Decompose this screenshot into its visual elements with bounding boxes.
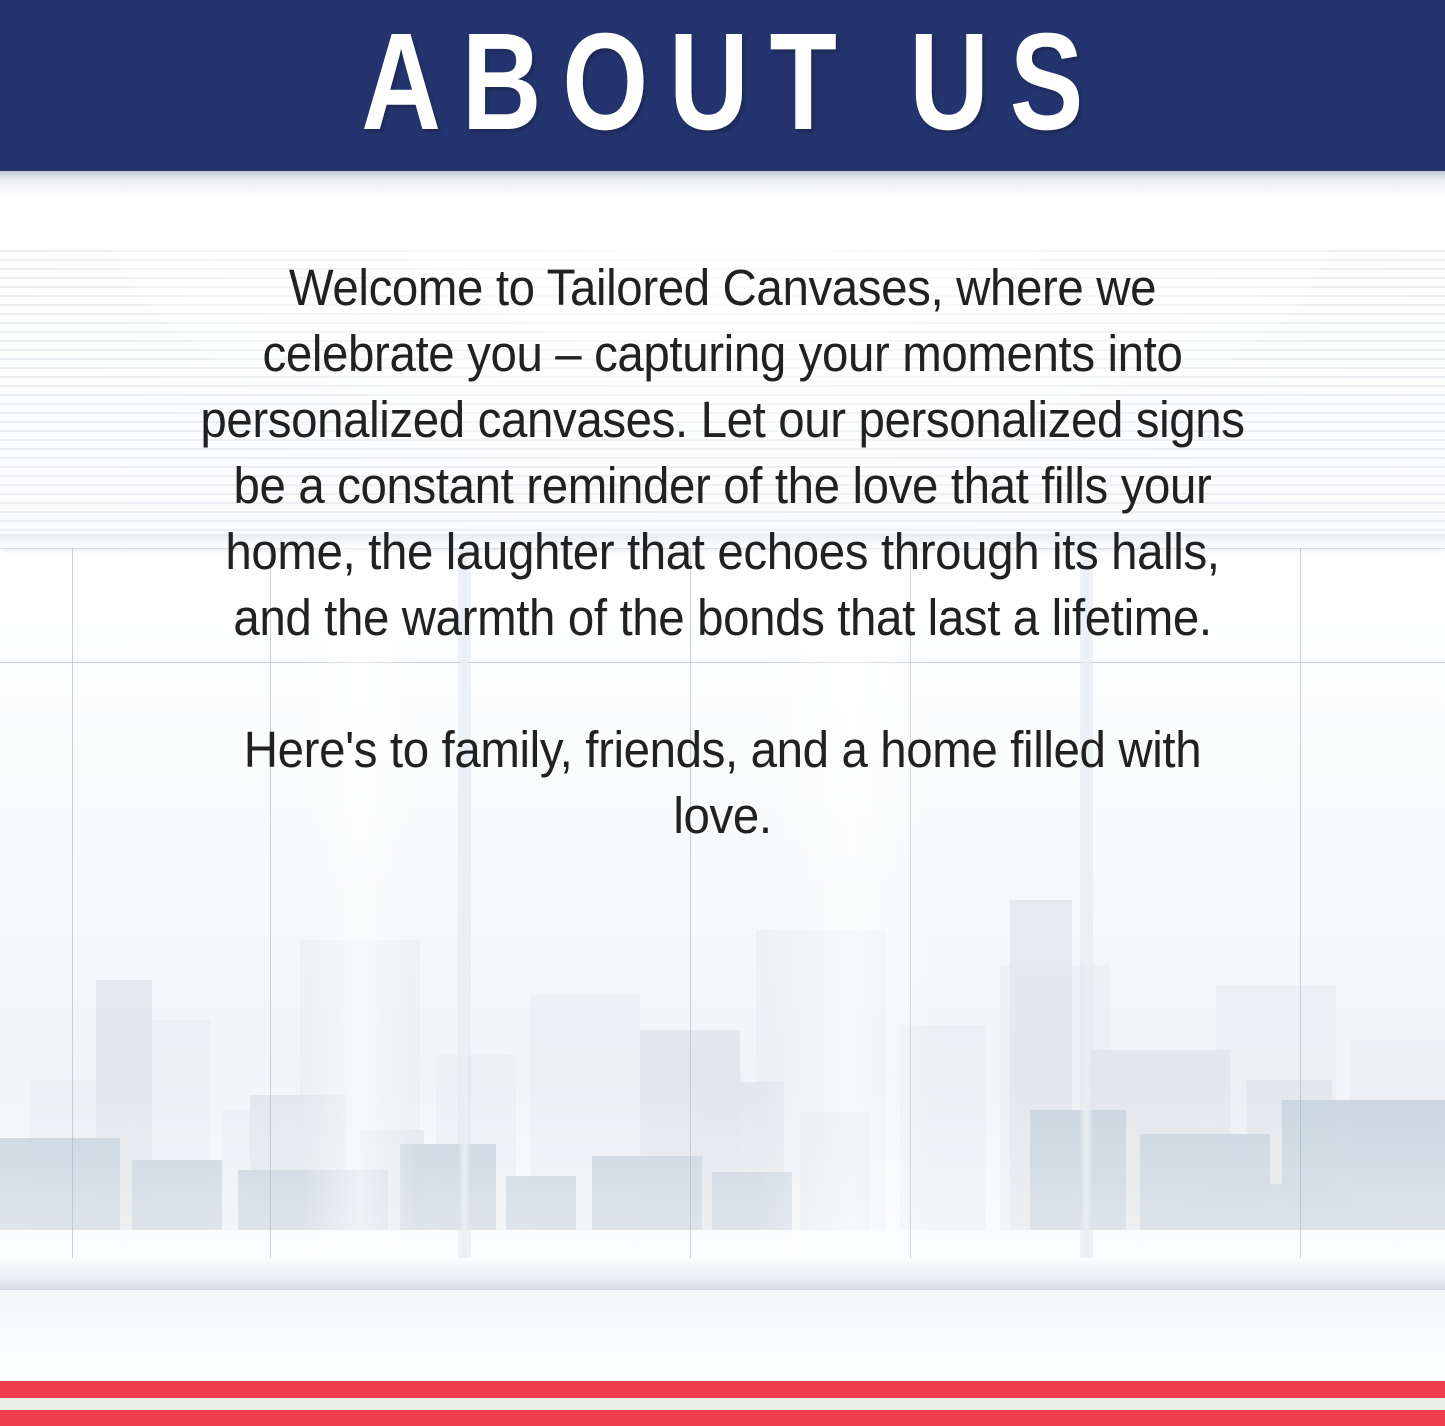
footer-stripe-top <box>0 1381 1445 1398</box>
about-paragraph-1: Welcome to Tailored Canvases, where we c… <box>51 255 1395 651</box>
about-us-card: ABOUT US Welcome to Tailored Canvases, w… <box>0 0 1445 1426</box>
about-paragraph-2: Here's to family, friends, and a home fi… <box>51 717 1395 849</box>
header-drop-shadow <box>0 171 1445 197</box>
founder-signature-block: Harley Founder of Tailored Canvases <box>0 1040 1445 1340</box>
footer-stripe-gap <box>0 1398 1445 1410</box>
about-text-block: Welcome to Tailored Canvases, where we c… <box>0 255 1445 849</box>
paragraph-spacer <box>0 651 1445 717</box>
header-bar: ABOUT US <box>0 0 1445 171</box>
footer-stripe-bottom <box>0 1410 1445 1426</box>
page-title: ABOUT US <box>341 13 1105 151</box>
